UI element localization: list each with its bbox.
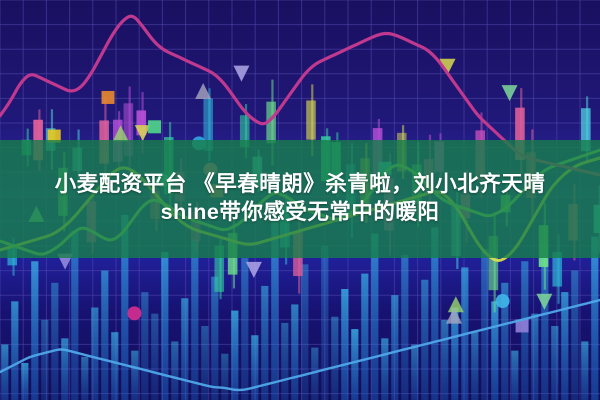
headline-line-2: shine带你感受无常中的暖阳 — [161, 199, 440, 227]
headline-overlay: 小麦配资平台 《早春晴朗》杀青啦，刘小北齐天晴 shine带你感受无常中的暖阳 — [0, 140, 600, 258]
headline-line-1: 小麦配资平台 《早春晴朗》杀青啦，刘小北齐天晴 — [55, 171, 545, 199]
chart-banner: 小麦配资平台 《早春晴朗》杀青啦，刘小北齐天晴 shine带你感受无常中的暖阳 — [0, 0, 600, 400]
